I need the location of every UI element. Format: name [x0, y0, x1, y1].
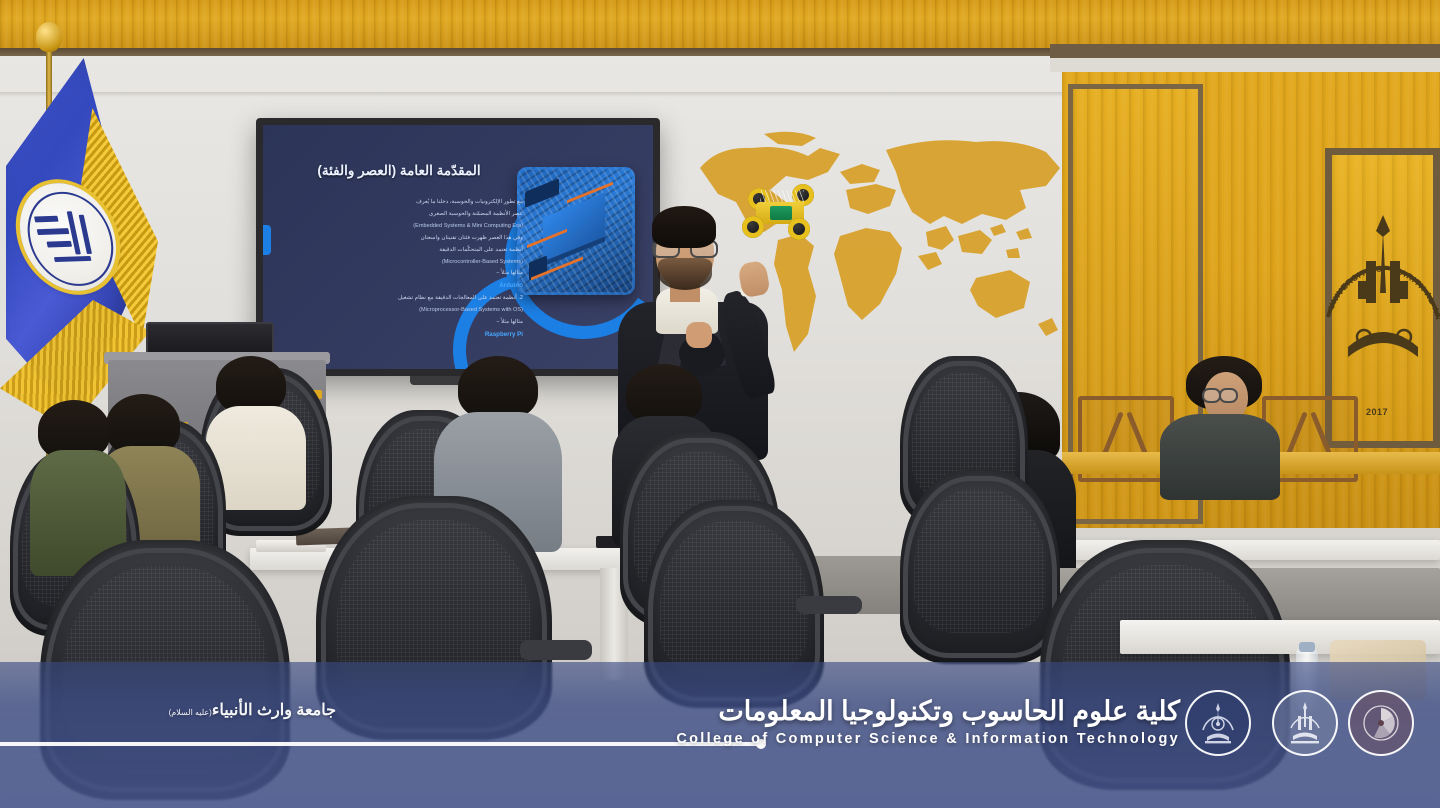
university-seal-logo-secondary [1272, 690, 1338, 756]
slide-line: 2. أنظمة تعتمد على المعالجات الدقيقة مع … [277, 293, 523, 304]
slide-line: Raspberry Pi [277, 329, 523, 341]
university-name-suffix: (عليه السلام) [169, 708, 212, 717]
chip-die [543, 192, 605, 261]
slide-tab-accent [263, 225, 271, 255]
slide-line: مثالها مثلاً − [277, 268, 523, 279]
university-name-text: جامعة وارث الأنبياء [212, 702, 336, 719]
slide-line: (Embedded Systems & Mini Computing Era) [277, 221, 523, 232]
audience-member [1160, 356, 1282, 488]
chair-armrest[interactable] [520, 640, 592, 660]
college-name-arabic: كلية علوم الحاسوب وتكنولوجيا المعلومات [640, 696, 1180, 727]
presenter-left-hand [686, 322, 712, 348]
slide-line: (Microprocessor-Based Systems with OS) [277, 305, 523, 316]
robot-wheel [742, 216, 764, 238]
slide-line: مثالها مثلاً − [277, 317, 523, 328]
slide-line: وفي هذا العصر ظهرت فئتان تقنيتان واسعتان [277, 233, 523, 244]
eyeglasses-icon [1202, 388, 1238, 399]
person-hair [458, 356, 538, 420]
presenter-beard [658, 258, 712, 290]
college-name-english: College of Computer Science & Informatio… [640, 731, 1180, 747]
emblem-year: 2017 [1366, 407, 1388, 417]
university-name-arabic: جامعة وارث الأنبياء(عليه السلام) [6, 700, 336, 720]
chair-armrest[interactable] [796, 596, 862, 614]
slide-title: المقدّمة العامة (العصر والفئة) [289, 163, 509, 179]
slide-body: مع تطور الإلكترونيات والحوسبة، دخلنا ما … [277, 197, 523, 342]
lecture-hall-photo: UNIVERSITY OF WARITH AL-ANBIYA 2017 [0, 0, 1440, 808]
wall-ledge [0, 92, 1100, 97]
flag-finial-icon [36, 22, 62, 52]
presenter-hair [652, 206, 716, 248]
university-seal-logo [1185, 690, 1251, 756]
robot-motor-module [770, 206, 792, 220]
slide-line: مع تطور الإلكترونيات والحوسبة، دخلنا ما … [277, 197, 523, 208]
robot-car [742, 184, 818, 246]
slide-line: عصر الأنظمة المضمّنة والحوسبة الصغرى [277, 209, 523, 220]
university-emblem-icon: UNIVERSITY OF WARITH AL-ANBIYA [1308, 197, 1440, 387]
wall-mounted-television: المقدّمة العامة (العصر والفئة) مع تطور ا… [256, 118, 660, 376]
office-chair[interactable] [900, 470, 1060, 664]
chip-component [525, 178, 559, 208]
slide-line: (Microcontroller-Based Systems) [277, 257, 523, 268]
slide-line: أنظمة تعتمد على المتحكّمات الدقيقة [277, 245, 523, 256]
robot-wheel [788, 218, 810, 240]
person-hair [626, 364, 702, 424]
person-torso [1160, 414, 1280, 500]
slide-line: Arduino [277, 280, 523, 292]
college-seal-logo [1348, 690, 1414, 756]
bottle-cap [1299, 642, 1315, 652]
presentation-slide: المقدّمة العامة (العصر والفئة) مع تطور ا… [263, 125, 653, 369]
wood-wall-top-bar [1050, 44, 1440, 58]
wood-wall-lintel [1050, 58, 1440, 72]
